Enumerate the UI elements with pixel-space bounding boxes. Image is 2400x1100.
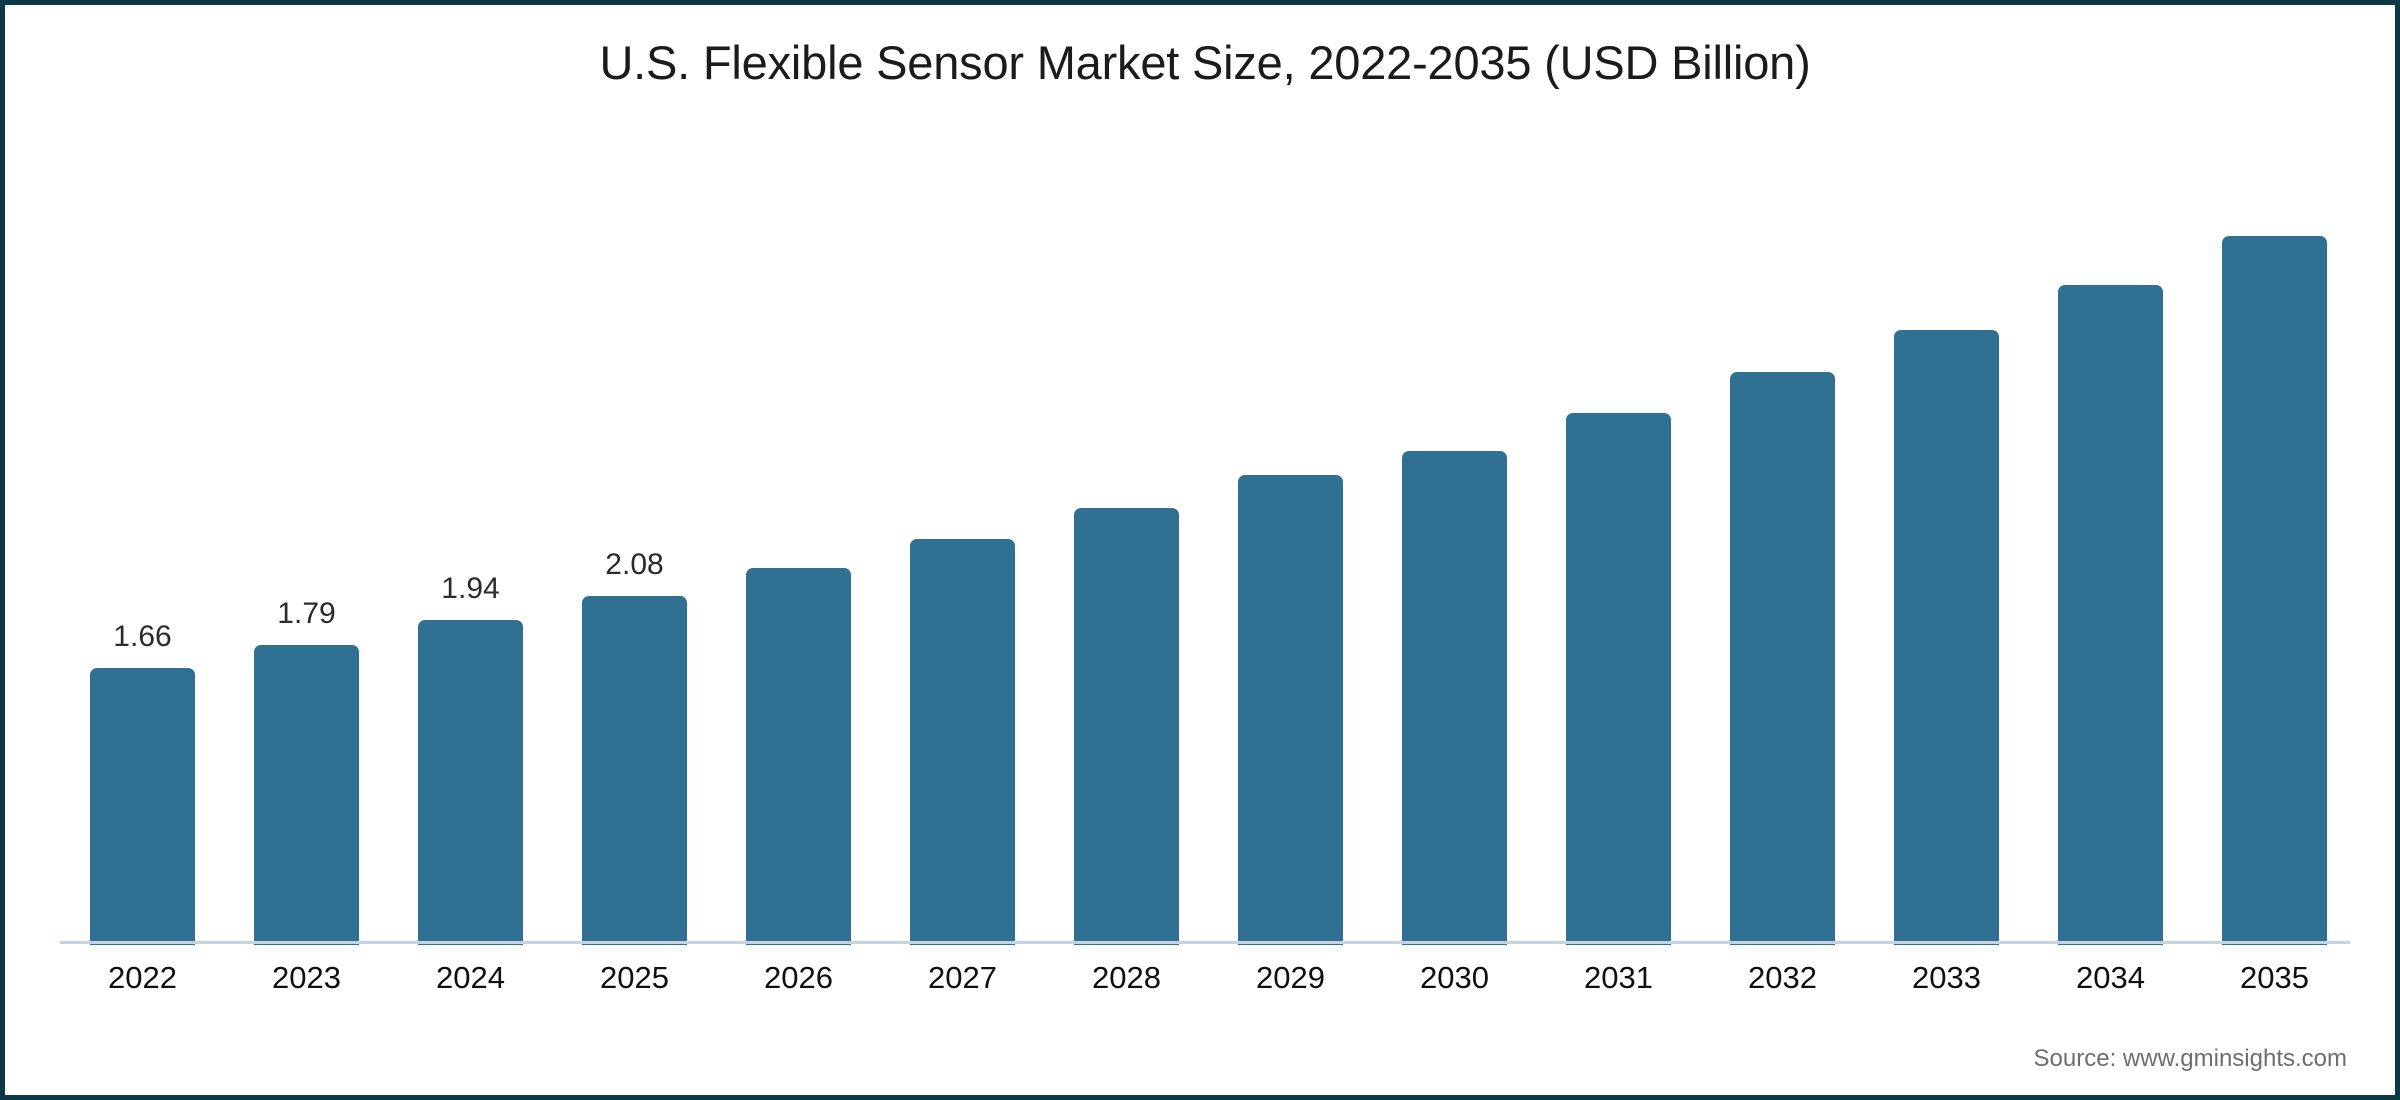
x-tick-2025: 2025 — [582, 960, 687, 996]
bar-2028[interactable] — [1074, 508, 1179, 945]
x-tick-2023: 2023 — [254, 960, 359, 996]
chart-figure: U.S. Flexible Sensor Market Size, 2022-2… — [0, 0, 2400, 1100]
bar-2034[interactable] — [2058, 285, 2163, 945]
x-axis-tick-labels: 2022202320242025202620272028202920302031… — [60, 960, 2345, 1010]
bar-rect-2035[interactable] — [2222, 236, 2327, 945]
bar-value-label-2025: 2.08 — [605, 548, 663, 582]
bar-rect-2024[interactable] — [418, 620, 523, 945]
bar-rect-2031[interactable] — [1566, 413, 1671, 945]
category-axis-line — [60, 941, 2350, 944]
bar-rect-2028[interactable] — [1074, 508, 1179, 945]
x-tick-2033: 2033 — [1894, 960, 1999, 996]
bar-rect-2033[interactable] — [1894, 330, 1999, 945]
x-tick-2032: 2032 — [1730, 960, 1835, 996]
x-tick-2031: 2031 — [1566, 960, 1671, 996]
bar-rect-2023[interactable] — [254, 645, 359, 945]
chart-title: U.S. Flexible Sensor Market Size, 2022-2… — [5, 35, 2400, 90]
bar-2027[interactable] — [910, 539, 1015, 945]
x-tick-2034: 2034 — [2058, 960, 2163, 996]
bar-rect-2027[interactable] — [910, 539, 1015, 945]
x-tick-2026: 2026 — [746, 960, 851, 996]
bar-rect-2029[interactable] — [1238, 475, 1343, 945]
x-tick-2027: 2027 — [910, 960, 1015, 996]
bar-2025[interactable]: 2.08 — [582, 596, 687, 945]
x-tick-2022: 2022 — [90, 960, 195, 996]
bar-2030[interactable] — [1402, 451, 1507, 945]
bar-rect-2030[interactable] — [1402, 451, 1507, 945]
source-attribution: Source: www.gminsights.com — [2034, 1045, 2347, 1073]
bar-2026[interactable] — [746, 568, 851, 945]
bar-rect-2026[interactable] — [746, 568, 851, 945]
x-tick-2030: 2030 — [1402, 960, 1507, 996]
bar-2024[interactable]: 1.94 — [418, 620, 523, 945]
bar-value-label-2024: 1.94 — [441, 572, 499, 606]
bar-rect-2025[interactable] — [582, 596, 687, 945]
bar-value-label-2022: 1.66 — [113, 620, 171, 654]
bar-2023[interactable]: 1.79 — [254, 645, 359, 945]
plot-area: 1.661.791.942.08 — [60, 145, 2345, 945]
bar-2033[interactable] — [1894, 330, 1999, 945]
x-tick-2024: 2024 — [418, 960, 523, 996]
x-tick-2029: 2029 — [1238, 960, 1343, 996]
bar-rect-2022[interactable] — [90, 668, 195, 945]
bar-rect-2032[interactable] — [1730, 372, 1835, 945]
x-tick-2028: 2028 — [1074, 960, 1179, 996]
x-tick-2035: 2035 — [2222, 960, 2327, 996]
bar-rect-2034[interactable] — [2058, 285, 2163, 945]
bar-2035[interactable] — [2222, 236, 2327, 945]
bar-value-label-2023: 1.79 — [277, 597, 335, 631]
bar-2029[interactable] — [1238, 475, 1343, 945]
bar-2022[interactable]: 1.66 — [90, 668, 195, 945]
bar-2032[interactable] — [1730, 372, 1835, 945]
bar-2031[interactable] — [1566, 413, 1671, 945]
